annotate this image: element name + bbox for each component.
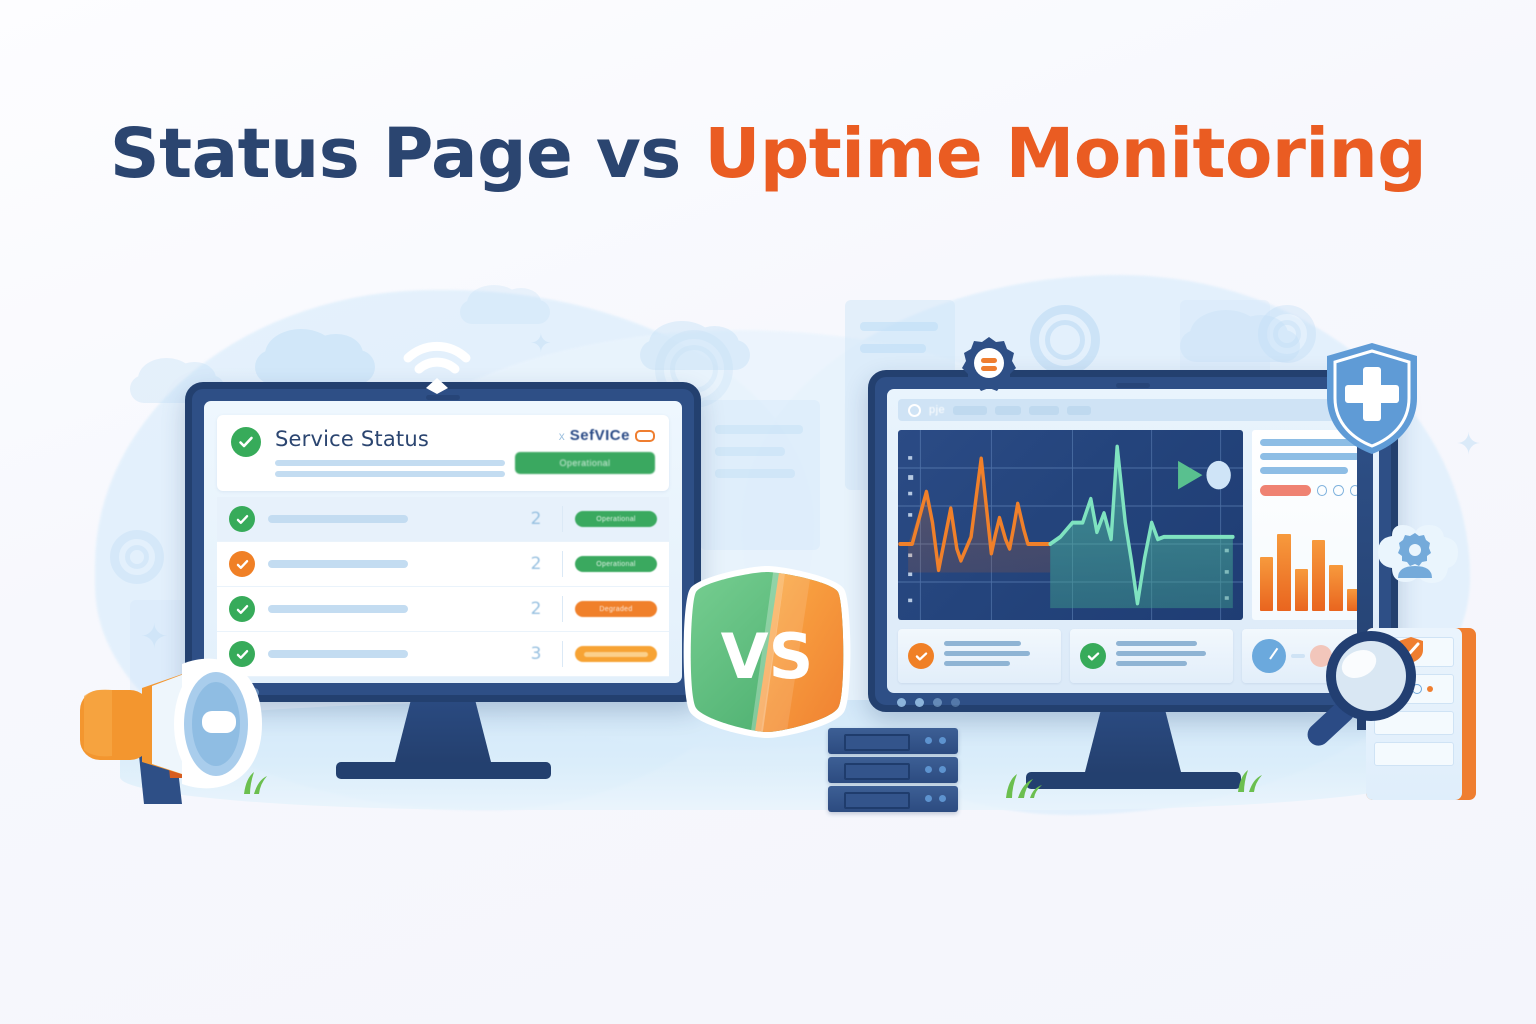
star-icon: ✦ bbox=[530, 330, 552, 356]
status-badge[interactable]: Operational bbox=[575, 556, 657, 572]
skeleton-line bbox=[275, 460, 505, 466]
server-stack-icon bbox=[828, 728, 958, 815]
skeleton-line bbox=[1067, 406, 1091, 415]
table-row[interactable]: 2 Degraded bbox=[217, 587, 669, 632]
circle-outline-icon bbox=[1317, 485, 1327, 496]
table-row[interactable]: 2 Operational bbox=[217, 542, 669, 587]
status-header-card: Service Status x SefVICe Operational bbox=[217, 415, 669, 491]
table-row[interactable]: 2 Operational bbox=[217, 497, 669, 542]
monitor-stand bbox=[395, 702, 491, 762]
page-title-accent: Uptime Monitoring bbox=[704, 114, 1426, 194]
monitor-indicator-dots bbox=[897, 698, 960, 707]
sidebar-bar-chart bbox=[1260, 506, 1360, 611]
skeleton-line bbox=[268, 605, 408, 613]
skeleton-line bbox=[275, 471, 505, 477]
person-gear-icon bbox=[1372, 520, 1458, 601]
logo-prefix: x bbox=[559, 429, 565, 443]
row-count: 2 bbox=[518, 599, 554, 619]
topbar-label: pje bbox=[929, 404, 945, 416]
row-count: 2 bbox=[518, 509, 554, 529]
card-text-lines bbox=[944, 641, 1051, 671]
skeleton-line bbox=[268, 560, 408, 568]
wifi-icon bbox=[398, 336, 476, 399]
illustration-canvas: ✦ ✦ ✦ ✦ Status Page vs Uptime Monitoring bbox=[0, 0, 1536, 1024]
sidebar-status-row bbox=[1260, 485, 1360, 496]
vs-label: VS bbox=[721, 620, 814, 693]
status-heading: Service Status bbox=[275, 427, 505, 451]
row-divider bbox=[562, 641, 563, 667]
dashboard-topbar: pje bbox=[898, 399, 1368, 421]
megaphone-icon bbox=[62, 628, 312, 823]
background-text-line bbox=[860, 344, 926, 353]
uptime-line-chart bbox=[898, 430, 1243, 620]
background-text-line bbox=[715, 425, 803, 434]
page-title: Status Page vs Uptime Monitoring bbox=[0, 118, 1536, 190]
operational-badge[interactable]: Operational bbox=[515, 452, 655, 474]
star-icon: ✦ bbox=[1456, 430, 1481, 460]
row-count: 2 bbox=[518, 554, 554, 574]
status-circle-icon bbox=[1206, 461, 1230, 490]
row-divider bbox=[562, 551, 563, 577]
monitor-base bbox=[1026, 772, 1241, 789]
monitor-base bbox=[336, 762, 551, 779]
gear-icon bbox=[110, 530, 164, 584]
list-item[interactable] bbox=[1070, 629, 1233, 683]
dashboard-main-row bbox=[898, 430, 1368, 620]
skeleton-line bbox=[953, 406, 987, 415]
gauge-icon bbox=[1252, 639, 1286, 673]
vs-badge: VS bbox=[682, 566, 852, 738]
circle-outline-icon bbox=[1333, 485, 1343, 496]
logo-text: SefVICe bbox=[570, 427, 630, 444]
skeleton-line bbox=[268, 515, 408, 523]
row-divider bbox=[562, 506, 563, 532]
background-text-line bbox=[715, 469, 795, 478]
list-item[interactable] bbox=[898, 629, 1061, 683]
gear-icon bbox=[1258, 305, 1316, 363]
grass-icon bbox=[1232, 766, 1272, 792]
service-logo: x SefVICe bbox=[515, 427, 655, 444]
server-unit bbox=[828, 786, 958, 812]
status-pill[interactable] bbox=[1260, 485, 1311, 496]
skeleton-line bbox=[995, 406, 1021, 415]
magnifier-icon bbox=[1295, 620, 1430, 775]
circle-outline-icon bbox=[908, 404, 921, 417]
gear-badge-icon bbox=[960, 334, 1018, 397]
cloud-icon bbox=[460, 300, 550, 324]
monitor-stand bbox=[1085, 712, 1181, 772]
card-text-lines bbox=[1116, 641, 1223, 671]
background-text-line bbox=[860, 322, 938, 331]
status-badge[interactable] bbox=[575, 646, 657, 662]
check-circle-green-icon bbox=[231, 427, 261, 457]
check-circle-green-icon bbox=[1080, 643, 1106, 669]
skeleton-line bbox=[1260, 467, 1348, 474]
cloud-icon bbox=[255, 350, 375, 384]
skeleton-line bbox=[1029, 406, 1059, 415]
logo-mark-icon bbox=[635, 430, 655, 442]
grass-icon bbox=[1000, 770, 1044, 798]
page-title-primary: Status Page vs bbox=[110, 114, 705, 194]
background-text-line bbox=[715, 447, 785, 456]
webcam-icon bbox=[1116, 383, 1150, 388]
play-triangle-icon bbox=[1178, 461, 1202, 490]
check-circle-orange-icon bbox=[908, 643, 934, 669]
status-badge[interactable]: Degraded bbox=[575, 601, 657, 617]
check-circle-orange-icon bbox=[229, 551, 255, 577]
check-circle-green-icon bbox=[229, 506, 255, 532]
row-count: 3 bbox=[518, 644, 554, 664]
gear-icon bbox=[1030, 305, 1100, 375]
status-badge[interactable]: Operational bbox=[575, 511, 657, 527]
row-divider bbox=[562, 596, 563, 622]
server-unit bbox=[828, 757, 958, 783]
shield-cross-icon bbox=[1322, 340, 1422, 463]
check-circle-green-icon bbox=[229, 596, 255, 622]
